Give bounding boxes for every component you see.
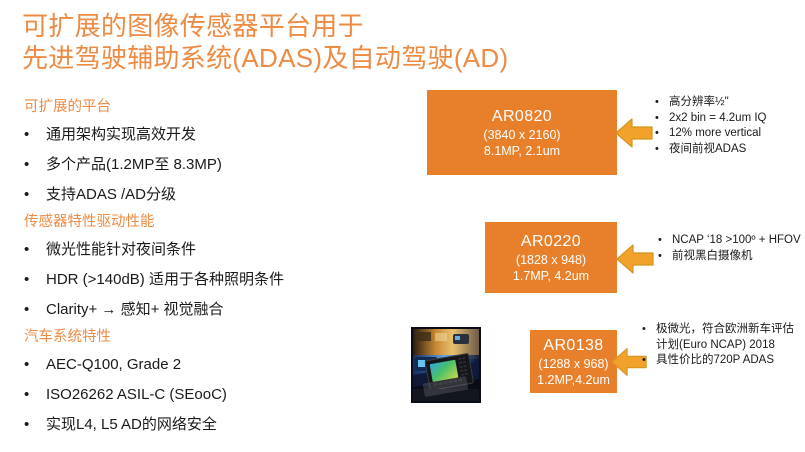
product-box-ar0138: AR0138 (1288 x 968) 1.2MP,4.2um (530, 330, 617, 393)
list-item-label: Clarity+ → 感知+ 视觉融合 (46, 295, 418, 325)
list-item: • 多个产品(1.2MP至 8.3MP) (18, 150, 418, 180)
product-box-ar0820: AR0820 (3840 x 2160) 8.1MP, 2.1um (427, 90, 617, 175)
list-item-label: 多个产品(1.2MP至 8.3MP) (46, 150, 418, 180)
list-item-label: 2x2 bin = 4.2um IQ (669, 111, 805, 127)
feature-group-platform: 可扩展的平台 • 通用架构实现高效开发 • 多个产品(1.2MP至 8.3MP)… (18, 96, 418, 210)
list-item-label: AEC-Q100, Grade 2 (46, 350, 418, 380)
list-item-label: 具性价比的720P ADAS (656, 353, 805, 369)
left-content-column: 可扩展的平台 • 通用架构实现高效开发 • 多个产品(1.2MP至 8.3MP)… (18, 96, 418, 441)
group-heading-platform: 可扩展的平台 (18, 96, 418, 119)
product-resolution: (3840 x 2160) (483, 127, 560, 143)
list-item-label: NCAP ‘18 >100º + HFOV (672, 233, 805, 249)
bullet-icon: • (18, 235, 46, 265)
list-item: • Clarity+ → 感知+ 视觉融合 (18, 295, 418, 325)
arrow-left-icon (614, 238, 656, 285)
list-item: • 高分辨率½" (655, 95, 805, 111)
list-item-label: 高分辨率½" (669, 95, 805, 111)
bullet-icon: • (18, 295, 46, 325)
product-megapixels: 1.7MP, 4.2um (513, 268, 589, 284)
list-item-label: 微光性能针对夜间条件 (46, 235, 418, 265)
slide-canvas: 可扩展的图像传感器平台用于 先进驾驶辅助系统(ADAS)及自动驾驶(AD) 可扩… (0, 0, 805, 452)
bullet-icon: • (18, 180, 46, 210)
list-item-label: ISO26262 ASIL-C (SEooC) (46, 380, 418, 410)
list-item: • 12% more vertical (655, 126, 805, 142)
list-item: • HDR (>140dB) 适用于各种照明条件 (18, 265, 418, 295)
list-item: • AEC-Q100, Grade 2 (18, 350, 418, 380)
bullet-icon: • (642, 322, 656, 338)
title-line-2: 先进驾驶辅助系统(ADAS)及自动驾驶(AD) (22, 42, 722, 74)
title-line-1: 可扩展的图像传感器平台用于 (22, 10, 722, 42)
bullet-icon: • (655, 111, 669, 127)
product-resolution: (1828 x 948) (516, 252, 586, 268)
bullet-icon: • (18, 265, 46, 295)
list-item-label: 通用架构实现高效开发 (46, 120, 418, 150)
bullet-icon: • (18, 410, 46, 440)
list-item-label: 极微光，符合欧洲新车评估计划(Euro NCAP) 2018 (656, 322, 805, 353)
list-item: • NCAP ‘18 >100º + HFOV (658, 233, 805, 249)
callout-ar0220: • NCAP ‘18 >100º + HFOV • 前视黑白摄像机 (658, 233, 805, 264)
callout-ar0820: • 高分辨率½" • 2x2 bin = 4.2um IQ • 12% more… (655, 95, 805, 157)
arrow-left-icon (613, 112, 655, 159)
group-heading-automotive: 汽车系统特性 (18, 326, 418, 349)
list-item: • ISO26262 ASIL-C (SEooC) (18, 380, 418, 410)
list-item: • 2x2 bin = 4.2um IQ (655, 111, 805, 127)
list-item: • 夜间前视ADAS (655, 142, 805, 158)
feature-group-sensor: 传感器特性驱动性能 • 微光性能针对夜间条件 • HDR (>140dB) 适用… (18, 211, 418, 325)
list-item: • 微光性能针对夜间条件 (18, 235, 418, 265)
list-item: • 通用架构实现高效开发 (18, 120, 418, 150)
list-item-label: 实现L4, L5 AD的网络安全 (46, 410, 418, 440)
list-item-label: HDR (>140dB) 适用于各种照明条件 (46, 265, 418, 295)
list-item-label: 夜间前视ADAS (669, 142, 805, 158)
bullet-icon: • (658, 249, 672, 265)
product-megapixels: 8.1MP, 2.1um (484, 143, 560, 159)
page-title: 可扩展的图像传感器平台用于 先进驾驶辅助系统(ADAS)及自动驾驶(AD) (22, 10, 722, 74)
bullet-icon: • (18, 150, 46, 180)
product-name: AR0820 (492, 107, 552, 127)
bullet-icon: • (18, 350, 46, 380)
bullet-icon: • (655, 95, 669, 111)
product-name: AR0138 (543, 336, 603, 356)
bullet-icon: • (655, 126, 669, 142)
bullet-icon: • (642, 353, 656, 369)
list-item-label: 支持ADAS /AD分级 (46, 180, 418, 210)
list-item: • 支持ADAS /AD分级 (18, 180, 418, 210)
list-item-label: 前视黑白摄像机 (672, 249, 805, 265)
feature-group-automotive: 汽车系统特性 • AEC-Q100, Grade 2 • ISO26262 AS… (18, 326, 418, 440)
list-item: • 前视黑白摄像机 (658, 249, 805, 265)
group-heading-sensor: 传感器特性驱动性能 (18, 211, 418, 234)
bullet-icon: • (655, 142, 669, 158)
product-name: AR0220 (521, 232, 581, 252)
bullet-icon: • (658, 233, 672, 249)
product-box-ar0220: AR0220 (1828 x 948) 1.7MP, 4.2um (485, 222, 617, 293)
bullet-icon: • (18, 120, 46, 150)
list-item: • 具性价比的720P ADAS (642, 353, 805, 369)
bullet-icon: • (18, 380, 46, 410)
list-item-label: 12% more vertical (669, 126, 805, 142)
list-item: • 实现L4, L5 AD的网络安全 (18, 410, 418, 440)
callout-ar0138: • 极微光，符合欧洲新车评估计划(Euro NCAP) 2018 • 具性价比的… (642, 322, 805, 369)
product-megapixels: 1.2MP,4.2um (537, 372, 610, 388)
product-photo (411, 327, 481, 403)
list-item: • 极微光，符合欧洲新车评估计划(Euro NCAP) 2018 (642, 322, 805, 353)
product-resolution: (1288 x 968) (538, 356, 608, 372)
